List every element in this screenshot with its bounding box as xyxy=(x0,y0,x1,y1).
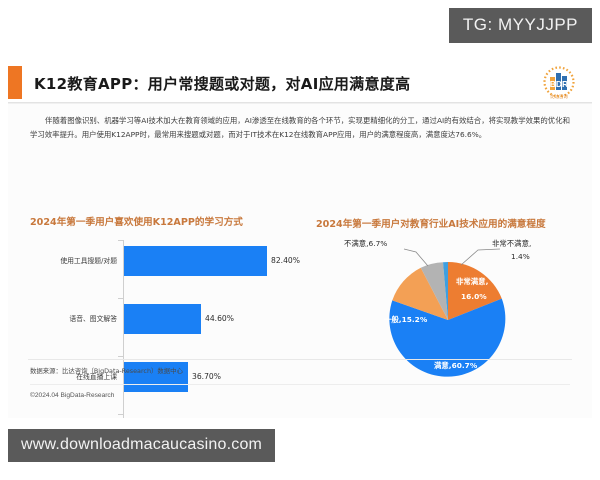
table-row: 语音、图文解答 44.60% xyxy=(30,302,296,336)
copyright: ©2024.04 BigData-Research xyxy=(30,392,114,399)
bdr-logo: BDR 比达咨询 xyxy=(540,65,578,101)
axis-tick xyxy=(118,240,123,241)
leader-line-unsatisfied xyxy=(404,249,428,266)
pie-label-satisfied: 满意,60.7% xyxy=(434,360,477,371)
bar-category-label: 语音、图文解答 xyxy=(30,302,117,336)
svg-text:比达咨询: 比达咨询 xyxy=(550,93,568,100)
data-source: 数据来源：比达咨询（BigData-Research）数据中心 xyxy=(30,366,183,375)
bar-rect xyxy=(124,304,201,334)
pie-chart-title: 2024年第一季用户对教育行业AI技术应用的满意程度 xyxy=(316,216,546,230)
page-title: K12教育APP：用户常搜题或对题，对AI应用满意度高 xyxy=(34,73,410,94)
pie-label-unsatisfied: 不满意,6.7% xyxy=(344,238,387,249)
axis-tick xyxy=(118,356,123,357)
url-watermark: www.downloadmacaucasino.com xyxy=(8,429,275,462)
bar-value-label: 82.40% xyxy=(271,244,300,278)
slide-header: K12教育APP：用户常搜题或对题，对AI应用满意度高 BDR 比达咨询 xyxy=(8,64,592,103)
svg-text:BDR: BDR xyxy=(550,79,568,89)
slide-body: 伴随着图像识别、机器学习等AI技术加大在教育领域的应用，AI渗透至在线教育的各个… xyxy=(8,103,592,418)
bar-rect xyxy=(124,246,267,276)
report-slide: K12教育APP：用户常搜题或对题，对AI应用满意度高 BDR 比达咨询 伴随着… xyxy=(8,64,592,416)
pie-label-very-satisfied: 非常满意, xyxy=(456,276,488,287)
bar-value-label: 36.70% xyxy=(192,360,221,394)
leader-line-very-unsatisfied xyxy=(461,249,500,265)
axis-tick xyxy=(118,298,123,299)
orange-accent-square xyxy=(8,66,22,99)
pie-label-very-unsatisfied: 非常不满意, xyxy=(492,238,531,249)
pie-label-very-satisfied-value: 16.0% xyxy=(461,292,487,301)
footer-divider xyxy=(28,359,572,360)
bar-category-label: 使用工具搜题/对题 xyxy=(30,244,117,278)
bar-value-label: 44.60% xyxy=(205,302,234,336)
bar-chart-title: 2024年第一季用户喜欢使用K12APP的学习方式 xyxy=(30,214,243,228)
axis-tick xyxy=(118,414,123,415)
pie-chart: 不满意,6.7% 非常不满意, 1.4% 非常满意, 16.0% 一般,15.2… xyxy=(308,234,588,426)
footer-rule xyxy=(30,384,570,385)
intro-paragraph: 伴随着图像识别、机器学习等AI技术加大在教育领域的应用，AI渗透至在线教育的各个… xyxy=(30,114,570,141)
pie-label-very-unsatisfied-value: 1.4% xyxy=(511,252,530,261)
pie-chart-svg xyxy=(308,234,588,426)
pie-label-average: 一般,15.2% xyxy=(384,314,427,325)
telegram-watermark: TG: MYYJJPP xyxy=(449,8,592,43)
table-row: 使用工具搜题/对题 82.40% xyxy=(30,244,296,278)
